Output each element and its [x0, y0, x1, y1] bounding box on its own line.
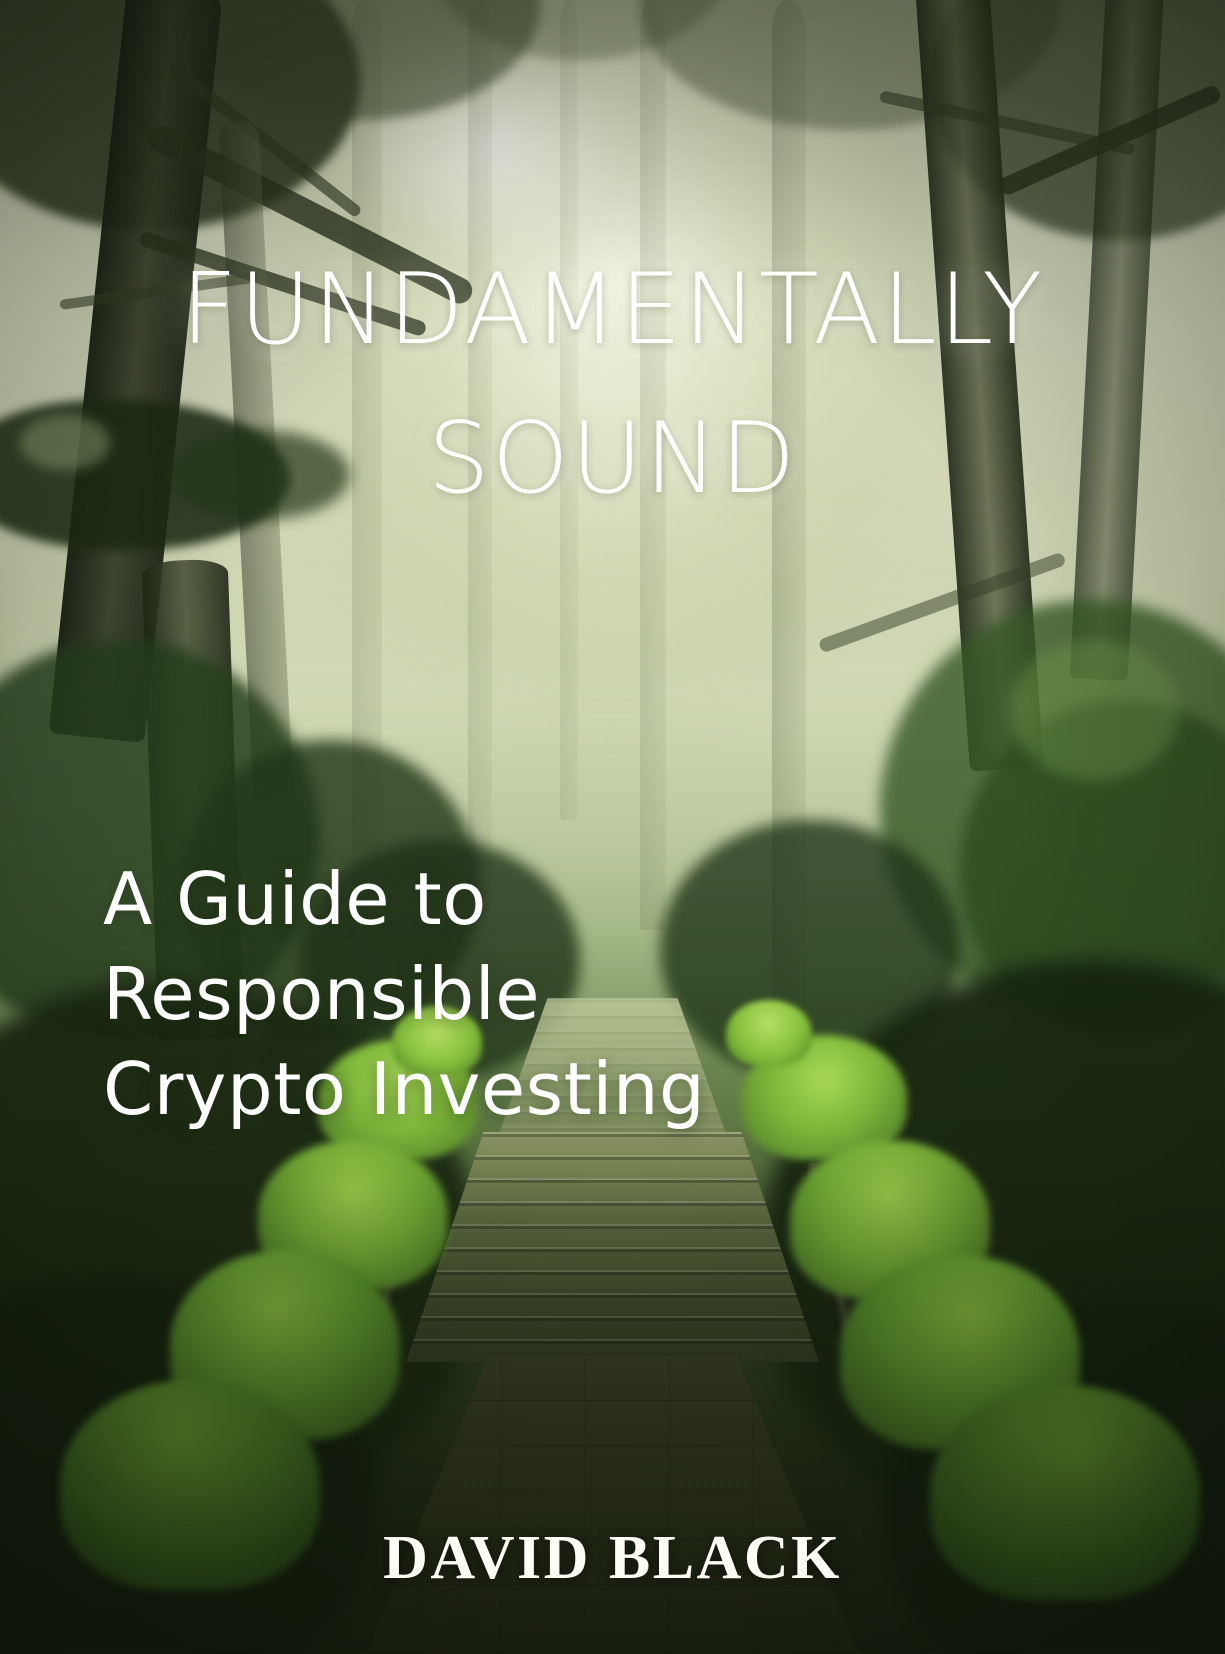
- book-subtitle: A Guide to Responsible Crypto Investing: [103, 852, 823, 1137]
- cover-text-layer: FUNDAMENTALLY SOUND A Guide to Responsib…: [0, 0, 1225, 1654]
- book-cover: FUNDAMENTALLY SOUND A Guide to Responsib…: [0, 0, 1225, 1654]
- book-title: FUNDAMENTALLY SOUND: [0, 236, 1225, 534]
- book-author-name: DAVID BLACK: [0, 1523, 1225, 1594]
